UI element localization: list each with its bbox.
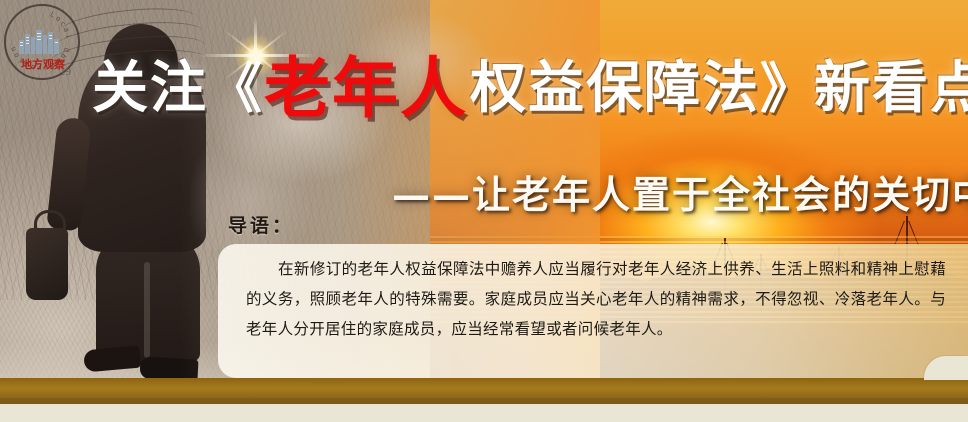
footer-strip	[0, 404, 968, 422]
logo-issue-number: 19	[60, 66, 71, 78]
title-bracket-close: 》	[760, 62, 814, 116]
title-highlight: 老年人	[264, 56, 468, 122]
title-suffix: 权益保障法	[470, 61, 760, 117]
article-banner: Local Observation 地方观察 19	[0, 0, 968, 422]
page-title: 关注 《 老年人 权益保障法 》 新看点	[92, 52, 968, 126]
publication-logo-stamp[interactable]: Local Observation 地方观察 19	[4, 4, 80, 80]
carried-bag	[26, 228, 68, 300]
lead-label: 导语：	[228, 211, 294, 238]
lead-body-text: 在新修订的老年人权益保障法中赡养人应当履行对老年人经济上供养、生活上照料和精神上…	[246, 254, 946, 344]
figure-leg-gap	[144, 262, 150, 358]
title-tail: 新看点	[814, 61, 968, 117]
title-bracket-open: 《	[208, 62, 262, 116]
page-subtitle: ——让老年人置于全社会的关切中	[392, 164, 968, 219]
title-prefix: 关注	[92, 61, 208, 117]
